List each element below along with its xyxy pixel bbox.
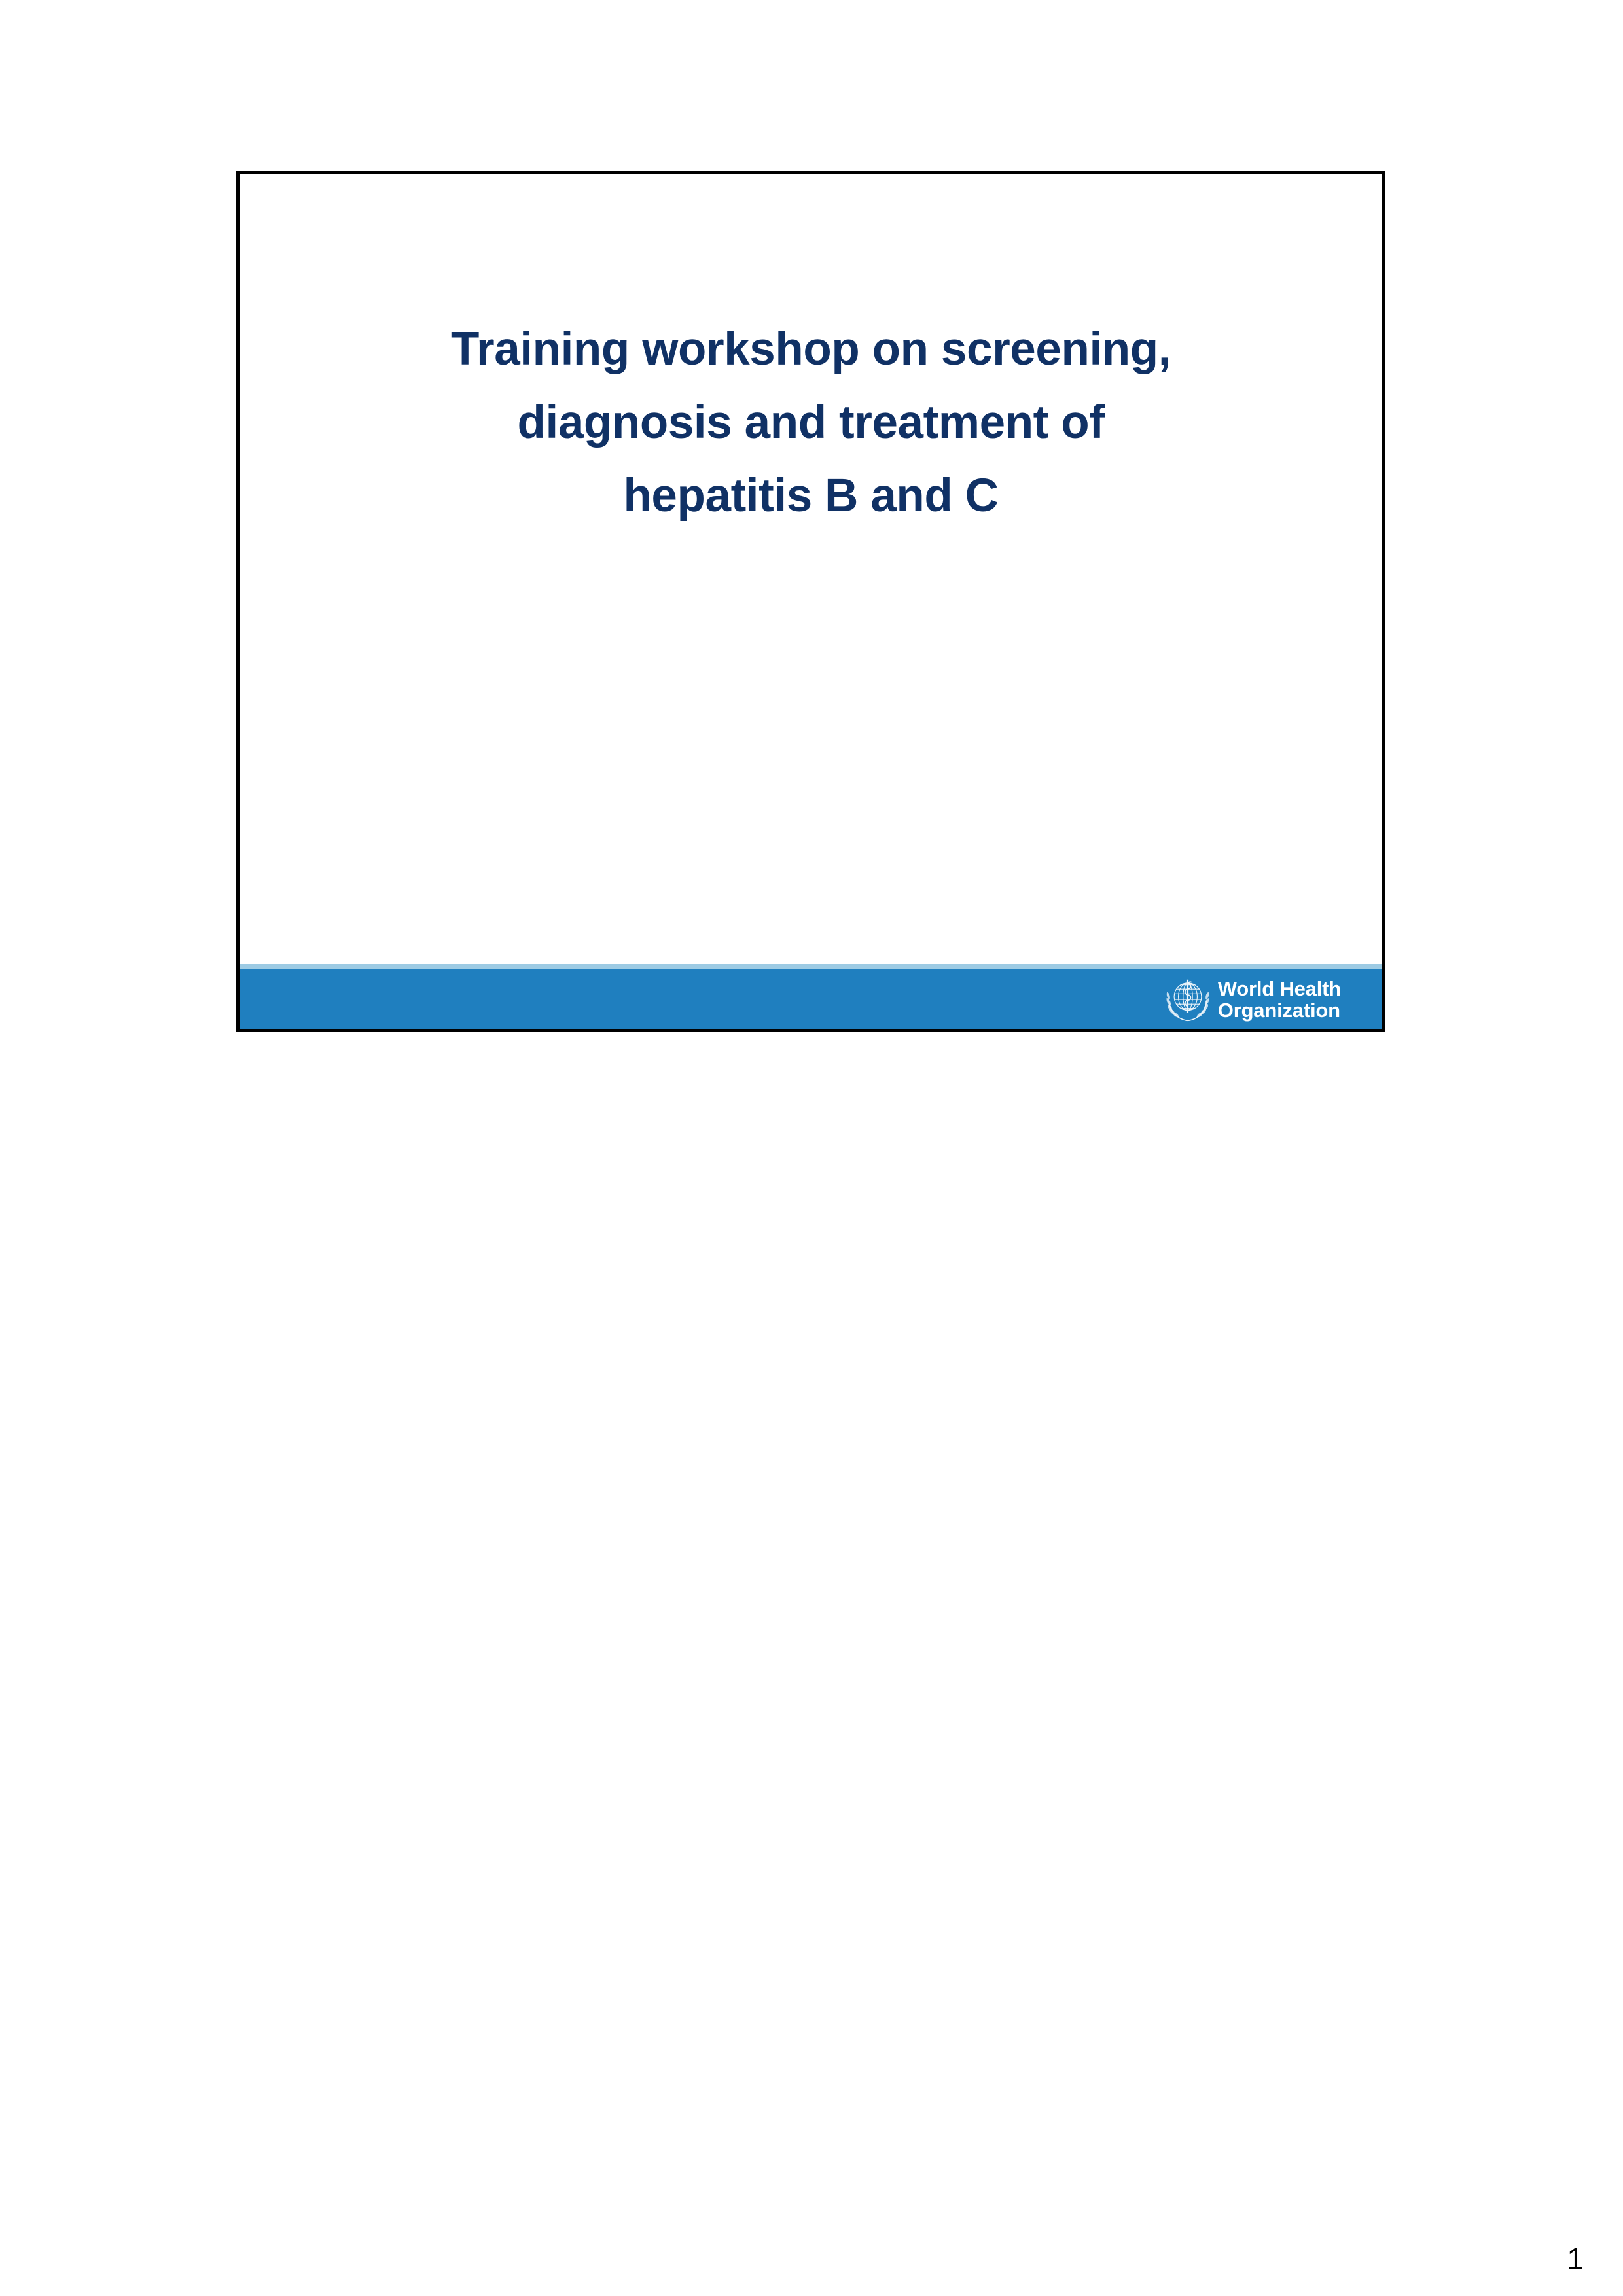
slide-frame: Training workshop on screening, diagnosi…	[236, 171, 1385, 1032]
title-line-2: diagnosis and treatment of	[240, 386, 1382, 459]
slide-title: Training workshop on screening, diagnosi…	[240, 313, 1382, 533]
title-line-3: hepatitis B and C	[240, 459, 1382, 533]
page-sheet: Training workshop on screening, diagnosi…	[0, 0, 1623, 2296]
who-wordmark-line-2: Organization	[1218, 999, 1341, 1021]
page-number: 1	[1558, 2244, 1584, 2274]
slide-footer-bar: World Health Organization	[240, 964, 1382, 1029]
who-logo: World Health Organization	[1164, 975, 1341, 1024]
who-emblem-icon	[1164, 976, 1211, 1023]
who-wordmark-line-1: World Health	[1218, 978, 1341, 999]
who-wordmark: World Health Organization	[1218, 978, 1341, 1021]
title-line-1: Training workshop on screening,	[240, 313, 1382, 386]
